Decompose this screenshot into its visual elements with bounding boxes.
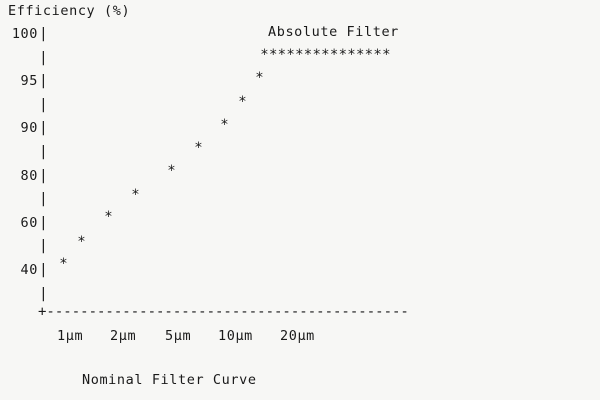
data-point-marker: * [238, 95, 247, 107]
ascii-chart: Efficiency (%) Absolute Filter 100||95||… [0, 0, 600, 400]
y-axis-line-glyph: | [39, 263, 48, 278]
data-point-marker: * [131, 188, 140, 200]
absolute-filter-marker: * [338, 48, 347, 60]
y-axis-line-glyph: | [39, 98, 48, 113]
y-axis-tick-label: 100 [12, 28, 38, 42]
absolute-filter-marker: * [277, 48, 286, 60]
absolute-filter-marker: * [269, 48, 278, 60]
y-axis-tick-label: 60 [21, 217, 38, 231]
x-axis-tick-label: 5µm [165, 330, 191, 344]
y-axis-line-glyph: | [39, 169, 48, 184]
absolute-filter-marker: * [347, 48, 356, 60]
y-axis-row: 90| [0, 122, 52, 146]
y-axis-row: | [0, 99, 52, 123]
data-point-marker: * [220, 118, 229, 130]
y-axis-title: Efficiency (%) [8, 5, 130, 19]
y-axis-row: | [0, 193, 52, 217]
data-point-marker: * [194, 141, 203, 153]
x-axis-tick-labels: 1µm2µm5µm10µm20µm [0, 330, 600, 348]
y-axis-row: 80| [0, 170, 52, 194]
y-axis-line-glyph: | [39, 287, 48, 302]
absolute-filter-marker: * [330, 48, 339, 60]
y-axis-line-glyph: | [39, 239, 48, 254]
series-label-absolute-filter: Absolute Filter [268, 26, 399, 40]
absolute-filter-marker: * [312, 48, 321, 60]
y-axis-tick-label: 80 [21, 170, 38, 184]
y-axis-line-glyph: | [39, 74, 48, 89]
y-axis-row: 100| [0, 28, 52, 52]
absolute-filter-marker: * [295, 48, 304, 60]
y-axis-line-glyph: | [39, 27, 48, 42]
y-axis-tick-label: 90 [21, 122, 38, 136]
y-axis-line-glyph: | [39, 121, 48, 136]
y-axis-line-glyph: | [39, 51, 48, 66]
y-axis: 100||95||90||80||60||40|| [0, 28, 52, 311]
y-axis-row: | [0, 146, 52, 170]
absolute-filter-marker: * [373, 48, 382, 60]
y-axis-line-glyph: | [39, 192, 48, 207]
y-axis-line-glyph: | [39, 145, 48, 160]
y-axis-row: 95| [0, 75, 52, 99]
data-point-marker: * [255, 71, 264, 83]
absolute-filter-marker: * [382, 48, 391, 60]
y-axis-tick-label: 95 [21, 75, 38, 89]
absolute-filter-marker: * [260, 48, 269, 60]
x-axis-tick-label: 20µm [280, 330, 315, 344]
y-axis-row: | [0, 52, 52, 76]
absolute-filter-marker: * [356, 48, 365, 60]
absolute-filter-marker: * [286, 48, 295, 60]
y-axis-row: 60| [0, 217, 52, 241]
absolute-filter-marker: * [304, 48, 313, 60]
x-axis-tick-label: 10µm [218, 330, 253, 344]
y-axis-tick-label: 40 [21, 264, 38, 278]
y-axis-line-glyph: | [39, 216, 48, 231]
x-axis-tick-label: 2µm [110, 330, 136, 344]
data-point-marker: * [167, 164, 176, 176]
absolute-filter-marker: * [364, 48, 373, 60]
data-point-marker: * [77, 235, 86, 247]
data-point-marker: * [104, 210, 113, 222]
plot-caption: Nominal Filter Curve [82, 374, 257, 388]
x-axis-line: +---------------------------------------… [38, 305, 409, 319]
data-point-marker: * [59, 257, 68, 269]
y-axis-row: 40| [0, 264, 52, 288]
absolute-filter-marker: * [321, 48, 330, 60]
x-axis-tick-label: 1µm [57, 330, 83, 344]
y-axis-row: | [0, 240, 52, 264]
